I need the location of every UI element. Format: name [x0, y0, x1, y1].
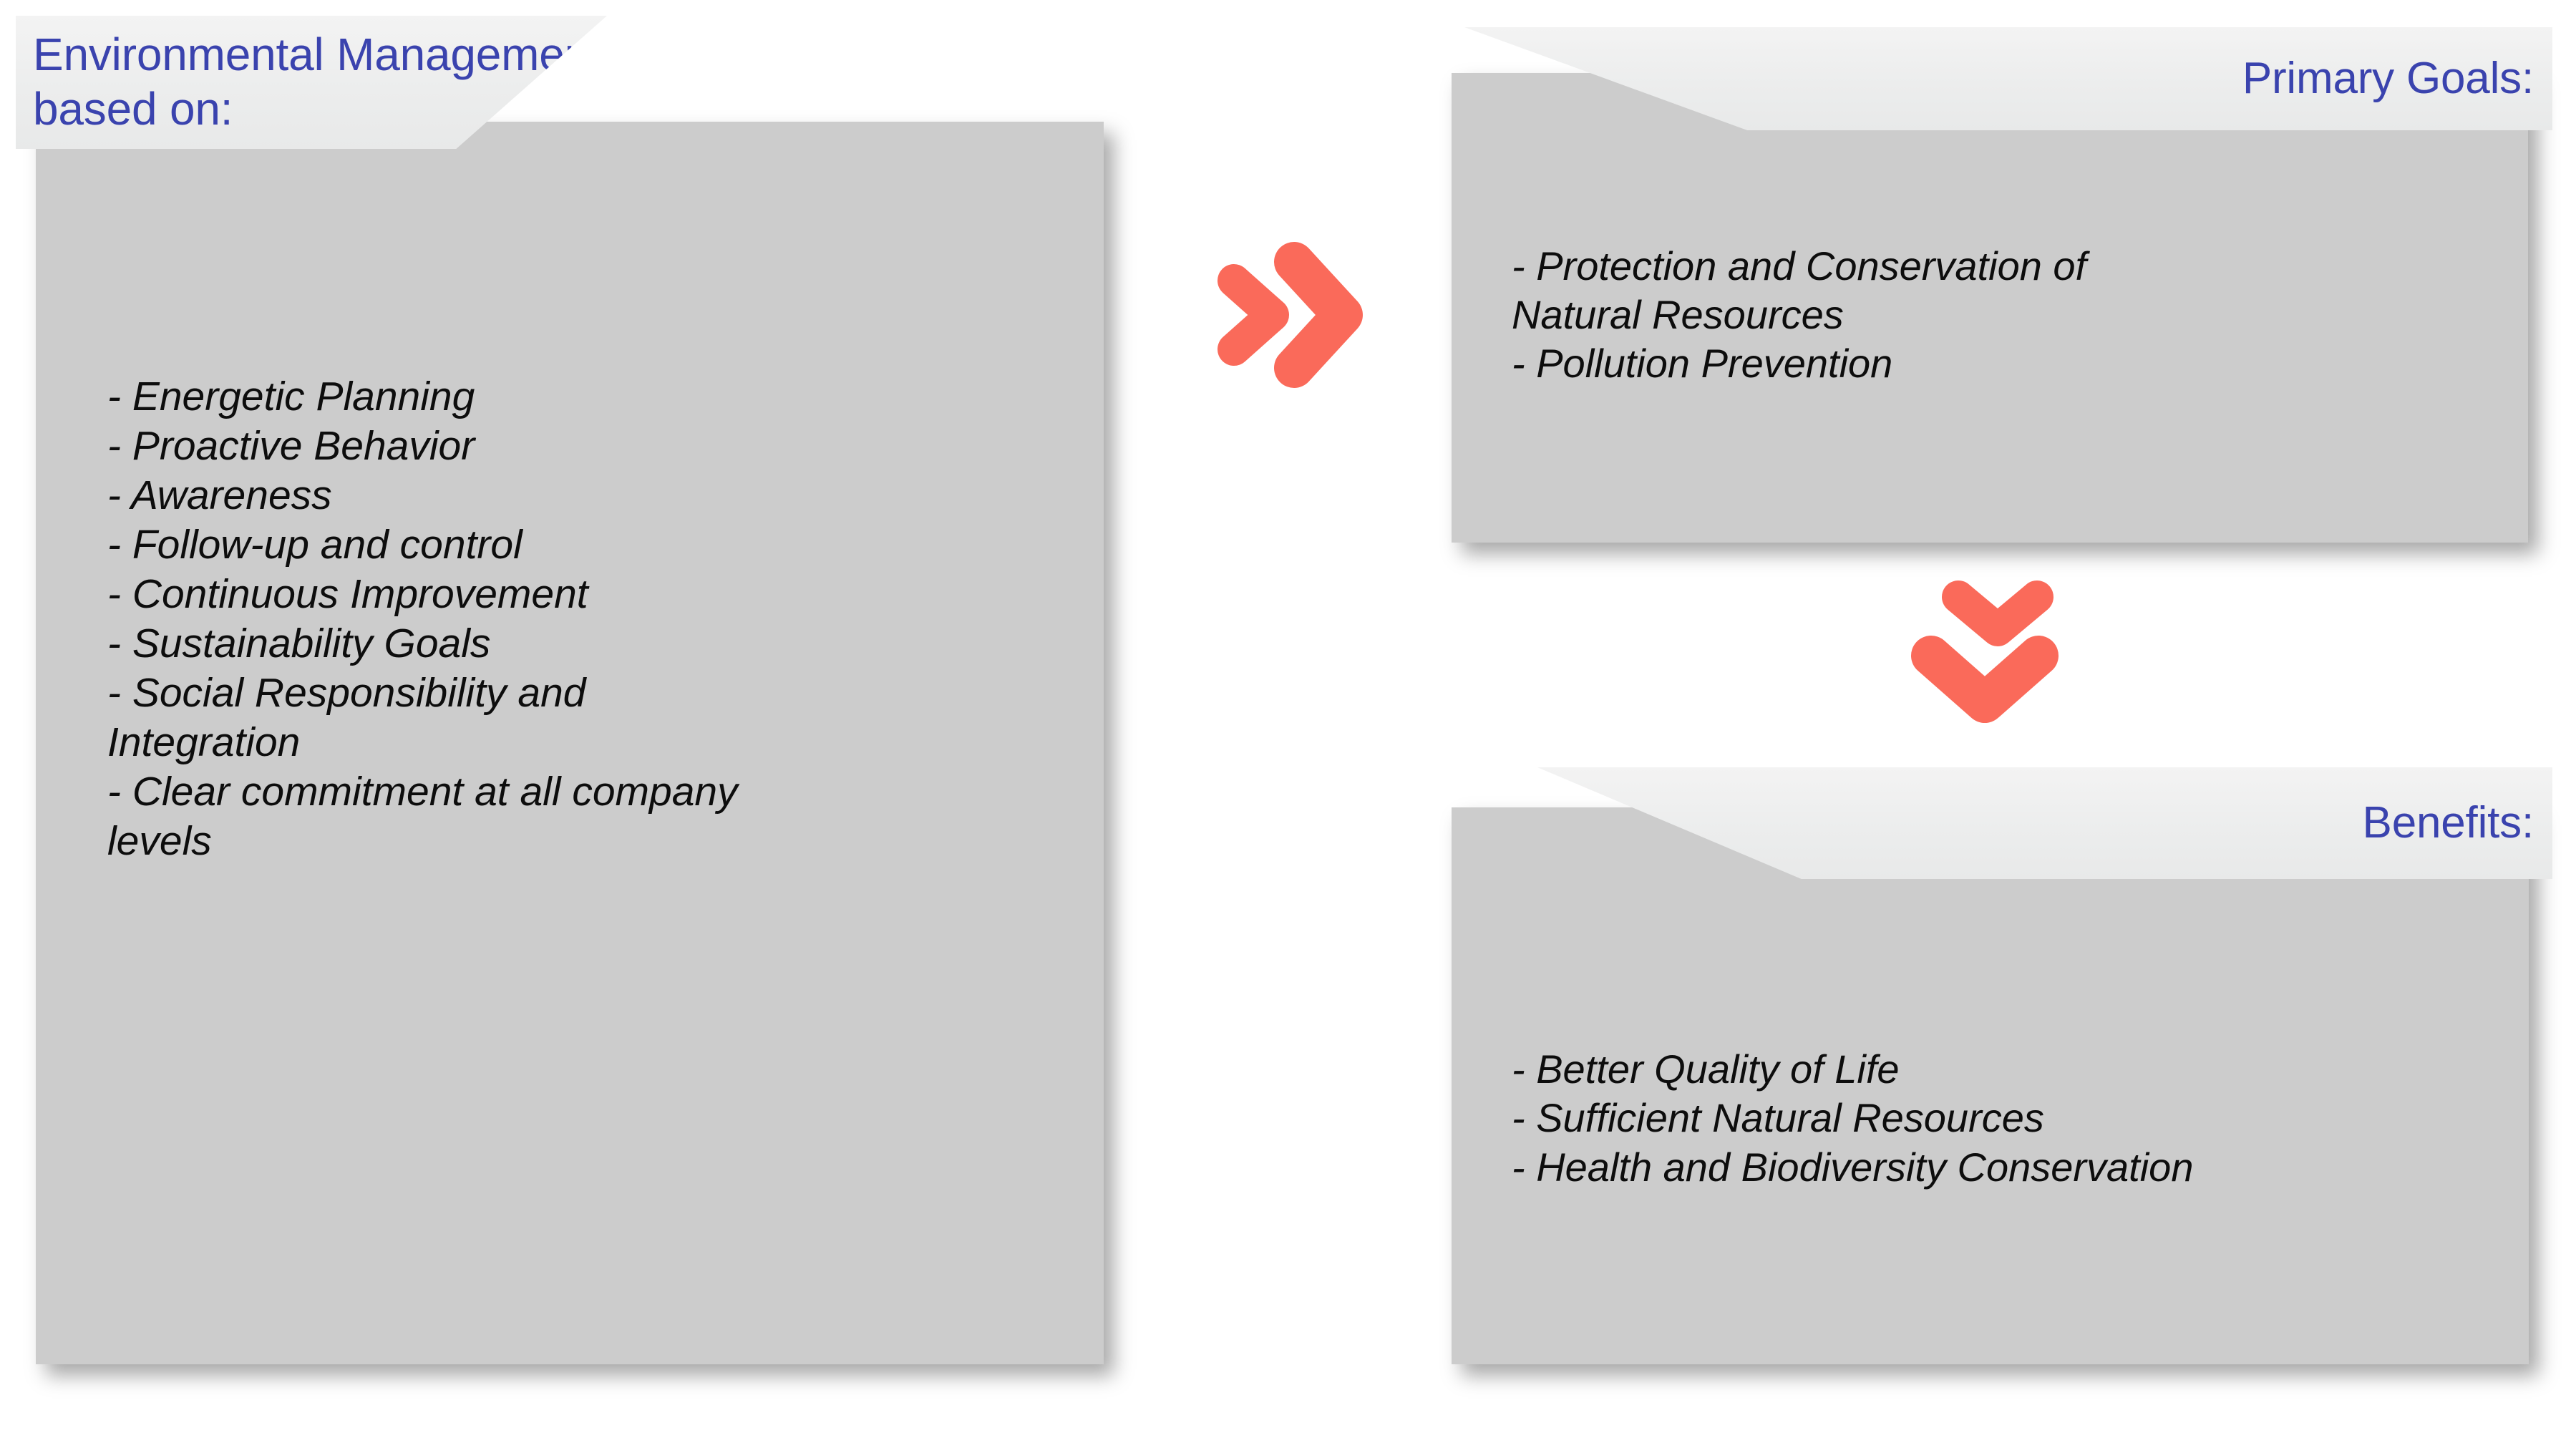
- card-title-environmental-management: Environmental Management based on:: [33, 28, 603, 136]
- card-list-benefits: - Better Quality of Life - Sufficient Na…: [1512, 1045, 2528, 1192]
- double-chevron-down-icon: [1904, 570, 2069, 734]
- card-title-benefits: Benefits:: [2363, 797, 2534, 849]
- double-chevron-right-icon: [1210, 236, 1367, 394]
- card-list-environmental-management: - Energetic Planning - Proactive Behavio…: [107, 372, 1059, 866]
- card-title-primary-goals: Primary Goals:: [2242, 53, 2534, 105]
- diagram-canvas: Environmental Management based on: - Ene…: [0, 0, 2576, 1438]
- card-list-primary-goals: - Protection and Conservation of Natural…: [1512, 242, 2485, 387]
